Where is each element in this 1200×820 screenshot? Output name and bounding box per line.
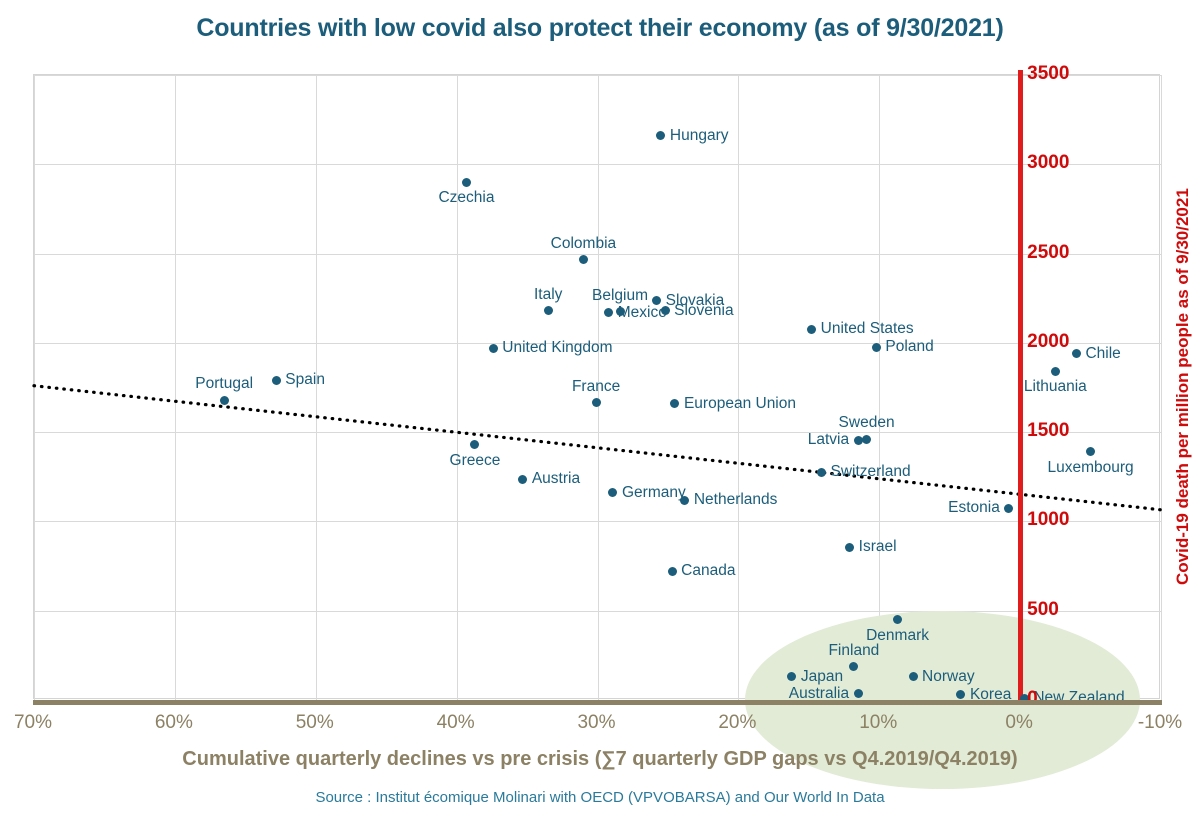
data-point[interactable] — [872, 343, 881, 352]
data-point-label: Chile — [1085, 345, 1120, 363]
data-point-label: Luxembourg — [1047, 459, 1133, 477]
data-point[interactable] — [817, 468, 826, 477]
data-point-label: Colombia — [551, 235, 616, 253]
data-point-label: Austria — [532, 470, 580, 488]
data-point[interactable] — [845, 543, 854, 552]
data-point[interactable] — [862, 435, 871, 444]
data-point-label: Germany — [622, 484, 686, 502]
data-point-label: Poland — [885, 338, 933, 356]
page-title: Countries with low covid also protect th… — [0, 14, 1200, 43]
data-point[interactable] — [1051, 367, 1060, 376]
data-point-label: Netherlands — [694, 491, 778, 509]
x-axis-title: Cumulative quarterly declines vs pre cri… — [0, 748, 1200, 771]
x-axis-tick-label: 30% — [577, 712, 615, 734]
data-point-label: Israel — [859, 538, 897, 556]
gridline-vertical — [1161, 75, 1162, 700]
x-axis-tick-label: 0% — [1005, 712, 1032, 734]
x-axis-tick-label: 70% — [14, 712, 52, 734]
data-point[interactable] — [592, 398, 601, 407]
data-point[interactable] — [462, 178, 471, 187]
x-axis-tick-label: -10% — [1138, 712, 1182, 734]
data-point-label: Switzerland — [830, 463, 910, 481]
data-point[interactable] — [854, 689, 863, 698]
x-axis-tick-label: 50% — [296, 712, 334, 734]
data-point-label: Slovenia — [674, 302, 733, 320]
data-point[interactable] — [668, 567, 677, 576]
y-axis-tick-label: 2000 — [1027, 331, 1069, 353]
y-axis-title: Covid-19 death per million people as of … — [1170, 74, 1196, 699]
data-point-label: Latvia — [808, 431, 849, 449]
data-point[interactable] — [807, 325, 816, 334]
data-point-label: United Kingdom — [502, 339, 612, 357]
data-point-label: Portugal — [195, 375, 253, 393]
data-point-label: European Union — [684, 395, 796, 413]
data-point[interactable] — [909, 672, 918, 681]
data-point[interactable] — [680, 496, 689, 505]
data-point-label: Japan — [801, 668, 843, 686]
plot-area: HungaryCzechiaColombiaSlovakiaSloveniaBe… — [33, 74, 1160, 699]
chart-source-note: Source : Institut écomique Molinari with… — [0, 789, 1200, 806]
data-point-label: United States — [821, 320, 914, 338]
data-point[interactable] — [272, 376, 281, 385]
zero-percent-reference-line — [1018, 70, 1023, 700]
y-axis-tick-label: 3500 — [1027, 63, 1069, 85]
data-point-label: Belgium — [592, 287, 648, 305]
data-point-label: Lithuania — [1024, 378, 1087, 396]
data-point[interactable] — [489, 344, 498, 353]
data-point-label: Finland — [828, 642, 879, 660]
data-point-label: Spain — [285, 371, 325, 389]
x-axis-line — [33, 700, 1162, 705]
data-point[interactable] — [1072, 349, 1081, 358]
data-point-label: Norway — [922, 668, 975, 686]
data-point[interactable] — [220, 396, 229, 405]
data-point[interactable] — [544, 306, 553, 315]
x-axis-tick-label: 40% — [437, 712, 475, 734]
data-point-label: France — [572, 378, 620, 396]
data-point-label: Hungary — [670, 127, 729, 145]
data-point-label: Sweden — [839, 414, 895, 432]
data-point-label: Estonia — [948, 499, 1000, 517]
x-axis-tick-label: 60% — [155, 712, 193, 734]
data-point[interactable] — [1004, 504, 1013, 513]
x-axis-tick-label: 20% — [718, 712, 756, 734]
y-axis-tick-label: 1000 — [1027, 509, 1069, 531]
data-point-label: Czechia — [438, 189, 494, 207]
data-point-label: Italy — [534, 286, 562, 304]
y-axis-tick-label: 0 — [1027, 688, 1038, 710]
y-axis-tick-label: 500 — [1027, 599, 1059, 621]
x-axis-tick-label: 10% — [859, 712, 897, 734]
y-axis-tick-label: 1500 — [1027, 420, 1069, 442]
y-axis-tick-label: 2500 — [1027, 242, 1069, 264]
y-axis-tick-label: 3000 — [1027, 152, 1069, 174]
data-point-label: Greece — [450, 452, 501, 470]
data-point-label: Mexico — [618, 304, 667, 322]
data-point-label: Canada — [681, 562, 735, 580]
